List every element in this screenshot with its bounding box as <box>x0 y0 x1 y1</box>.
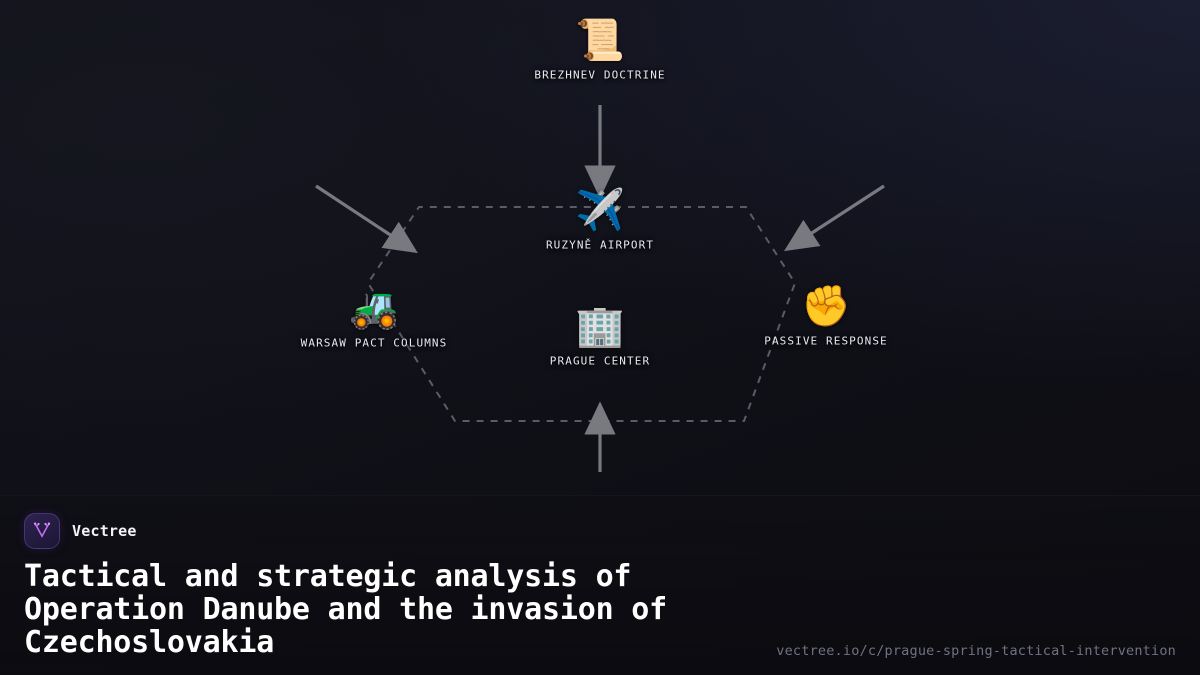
vectree-logo <box>24 513 60 549</box>
scroll-icon: 📜 <box>575 19 625 63</box>
graph-node-label: WARSAW PACT COLUMNS <box>301 337 448 350</box>
brand-row: Vectree <box>24 514 1176 548</box>
office-building-icon: 🏢 <box>575 305 625 349</box>
concept-graph-canvas[interactable]: 📜 BREZHNEV DOCTRINE ✈️ RUZYNĚ AIRPORT 🚜 … <box>0 0 1200 495</box>
graph-node-label: PRAGUE CENTER <box>550 355 650 368</box>
footer-bar: Vectree Tactical and strategic analysis … <box>0 495 1200 675</box>
airplane-icon: ✈️ <box>575 189 625 233</box>
graph-node-warsaw-pact-columns[interactable]: 🚜 WARSAW PACT COLUMNS <box>301 287 448 350</box>
graph-node-brezhnev-doctrine[interactable]: 📜 BREZHNEV DOCTRINE <box>534 19 665 82</box>
graph-node-label: PASSIVE RESPONSE <box>764 335 888 348</box>
arrow-incoming-left <box>316 186 404 244</box>
footer-url: vectree.io/c/prague-spring-tactical-inte… <box>776 643 1176 659</box>
brand-name: Vectree <box>72 522 137 540</box>
graph-node-ruzyne-airport[interactable]: ✈️ RUZYNĚ AIRPORT <box>546 189 654 252</box>
graph-node-label: RUZYNĚ AIRPORT <box>546 239 654 252</box>
graph-node-prague-center[interactable]: 🏢 PRAGUE CENTER <box>550 305 650 368</box>
arrow-incoming-right <box>798 186 884 242</box>
graph-node-passive-response[interactable]: ✊ PASSIVE RESPONSE <box>764 285 888 348</box>
graph-node-label: BREZHNEV DOCTRINE <box>534 69 665 82</box>
page-title: Tactical and strategic analysis of Opera… <box>24 560 794 659</box>
tractor-icon: 🚜 <box>349 287 399 331</box>
raised-fist-icon: ✊ <box>801 285 851 329</box>
screenshot-root: 📜 BREZHNEV DOCTRINE ✈️ RUZYNĚ AIRPORT 🚜 … <box>0 0 1200 675</box>
vectree-logo-mark <box>32 521 52 541</box>
